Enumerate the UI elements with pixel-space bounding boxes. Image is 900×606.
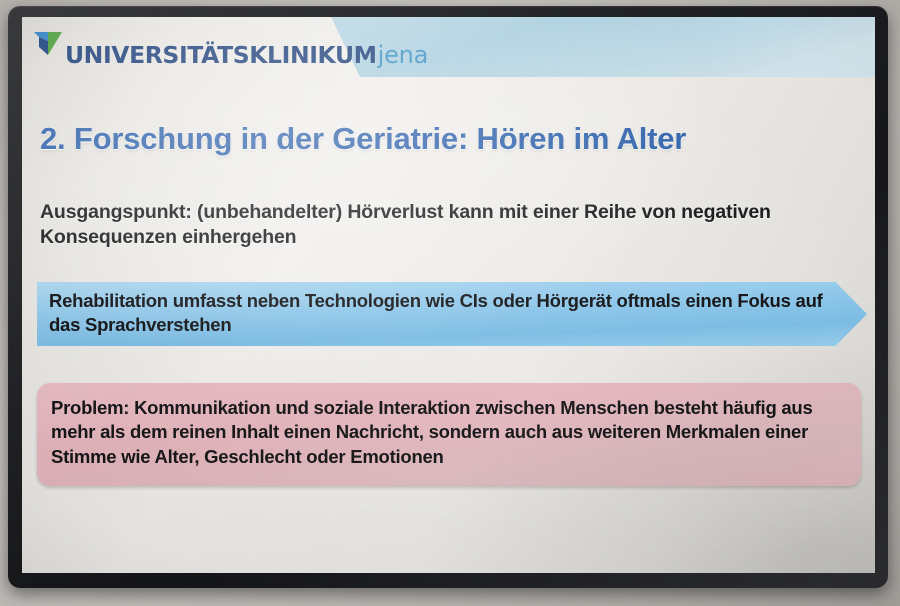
logo-wordmark: UNIVERSITÄTSKLINIKUM jena — [65, 43, 428, 68]
logo: UNIVERSITÄTSKLINIKUM jena — [32, 26, 428, 68]
problem-box-text: Problem: Kommunikation und soziale Inter… — [51, 396, 851, 469]
slide-title: 2. Forschung in der Geriatrie: Hören im … — [40, 121, 840, 157]
problem-box: Problem: Kommunikation und soziale Inter… — [37, 383, 861, 486]
intro-paragraph: Ausgangspunkt: (unbehandelter) Hörverlus… — [40, 200, 850, 250]
logo-institution-text: UNIVERSITÄTSKLINIKUM — [65, 44, 377, 68]
photo-of-presentation-screen: UNIVERSITÄTSKLINIKUM jena 2. Forschung i… — [0, 0, 900, 606]
arrow-banner-text: Rehabilitation umfasst neben Technologie… — [49, 289, 824, 337]
slide-screen: UNIVERSITÄTSKLINIKUM jena 2. Forschung i… — [22, 17, 875, 573]
uniklinikum-jena-logo-mark-icon — [32, 28, 64, 58]
logo-city-text: jena — [378, 43, 429, 67]
arrow-banner: Rehabilitation umfasst neben Technologie… — [37, 282, 867, 346]
